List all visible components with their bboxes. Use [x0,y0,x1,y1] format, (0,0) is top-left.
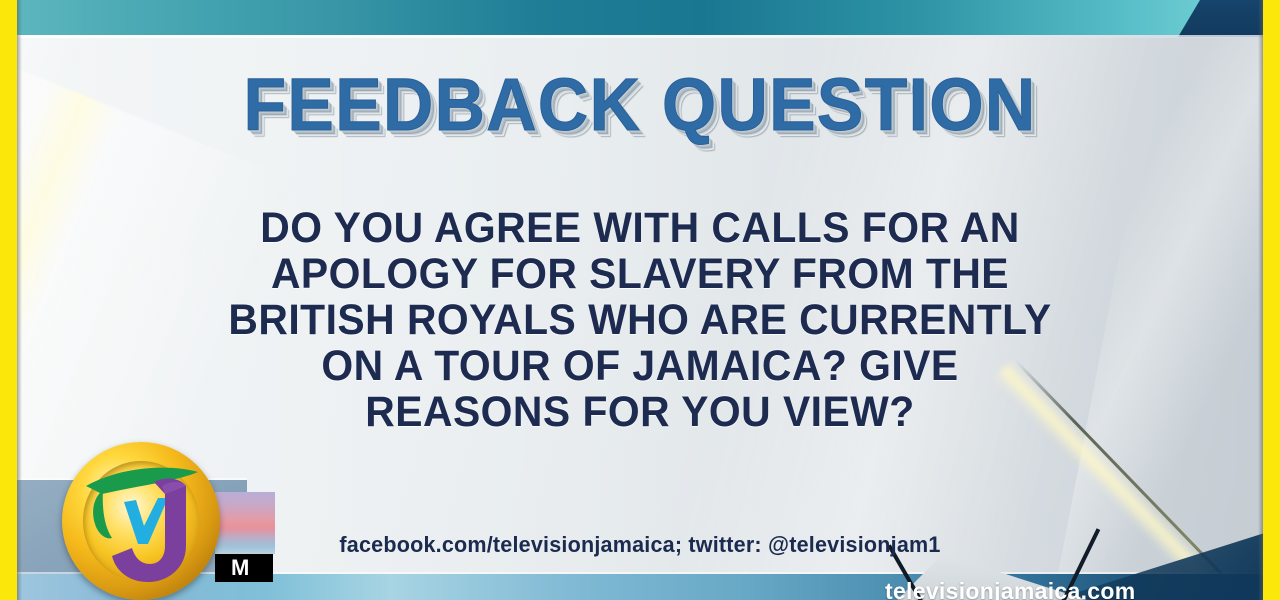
question-line-5: REASONS FOR YOU VIEW? [89,389,1191,435]
corner-badge-bar: M [215,554,273,582]
frame-border-left [0,0,17,600]
top-band-highlight-edge [17,35,1263,38]
logo-green-t-stem [93,490,112,538]
top-teal-band [17,0,1263,35]
question-line-3: BRITISH ROYALS WHO ARE CURRENTLY [89,297,1191,343]
tvj-logo [62,442,220,600]
frame-border-right [1263,0,1280,600]
corner-badge-label: M [231,555,249,581]
graphic-title: FEEDBACK QUESTION [38,68,1241,142]
question-line-1: DO YOU AGREE WITH CALLS FOR AN [89,205,1191,251]
question-line-4: ON A TOUR OF JAMAICA? GIVE [89,343,1191,389]
question-line-2: APOLOGY FOR SLAVERY FROM THE [89,251,1191,297]
broadcast-graphic-screen: FEEDBACK QUESTION DO YOU AGREE WITH CALL… [0,0,1280,600]
logo-letterforms [62,442,220,600]
website-url-text: televisionjamaica.com [885,578,1135,600]
feedback-question-text: DO YOU AGREE WITH CALLS FOR AN APOLOGY F… [89,205,1191,435]
corner-thumbnail-image [215,492,275,554]
logo-cyan-v [124,498,168,544]
